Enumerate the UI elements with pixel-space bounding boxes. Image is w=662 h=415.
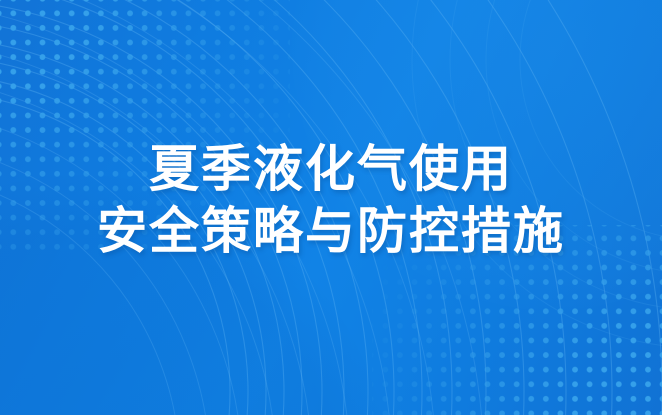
title-line-1: 夏季液化气使用 xyxy=(0,138,662,200)
title-line-2: 安全策略与防控措施 xyxy=(0,200,662,262)
page-title: 夏季液化气使用 安全策略与防控措施 xyxy=(0,138,662,262)
title-banner: 夏季液化气使用 安全策略与防控措施 xyxy=(0,0,662,415)
